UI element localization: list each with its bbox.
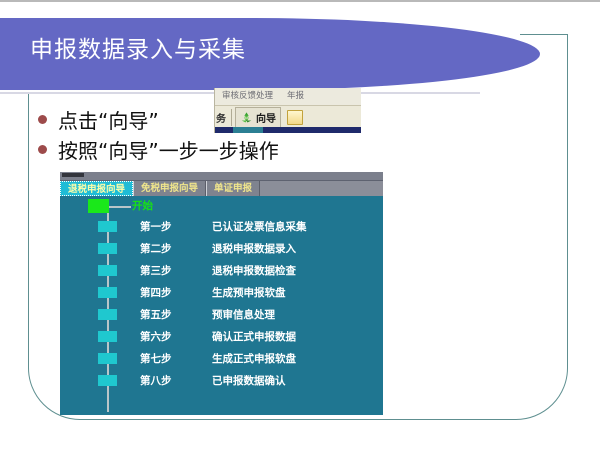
step-description: 已申报数据确认 [212,373,286,388]
step-chip-icon [98,221,117,232]
window-title-strip [60,172,383,181]
step-number: 第六步 [140,329,172,344]
step-chip-icon [98,243,117,254]
start-label: 开始 [132,198,153,213]
menu-item-annual-report[interactable]: 年报 [280,88,311,105]
bullet-text: 按照“向导”一步一步操作 [58,135,279,164]
title-strip-blip [62,173,84,177]
menu-bar: 审核反馈处理 年报 [215,88,361,106]
list-item[interactable]: 第一步 已认证发票信息采集 [60,216,383,238]
list-item[interactable]: 第三步 退税申报数据检查 [60,260,383,282]
bullet-marker-icon [38,115,47,124]
step-description: 预审信息处理 [212,307,275,322]
step-number: 第八步 [140,373,172,388]
list-item[interactable]: 第五步 预审信息处理 [60,304,383,326]
page-title: 申报数据录入与采集 [30,30,246,64]
step-number: 第三步 [140,263,172,278]
tab-document-declaration-wizard[interactable]: 单证申报 [206,181,260,196]
toolbar-separator [231,109,232,126]
step-description: 退税申报数据录入 [212,241,296,256]
toolbar-button-row: 务 向导 [215,106,361,128]
bullet-text: 点击“向导” [58,105,159,134]
start-marker-icon [88,199,109,213]
flow-connector-elbow [107,206,131,208]
step-chip-icon [98,331,117,342]
step-chip-icon [98,309,117,320]
presentation-slide: 申报数据录入与采集 点击“向导” 按照“向导”一步一步操作 审核反馈处理 年报 … [0,0,600,450]
wizard-button[interactable]: 向导 [235,107,281,128]
step-chip-icon [98,265,117,276]
step-chip-icon [98,375,117,386]
step-description: 已认证发票信息采集 [212,219,307,234]
menu-item-audit-feedback[interactable]: 审核反馈处理 [215,88,280,105]
recycle-icon [240,111,253,124]
step-number: 第四步 [140,285,172,300]
list-item[interactable]: 第八步 已申报数据确认 [60,370,383,392]
wizard-step-list: 第一步 已认证发票信息采集 第二步 退税申报数据录入 第三步 退税申报数据检查 … [60,216,383,392]
step-number: 第二步 [140,241,172,256]
step-description: 生成正式申报软盘 [212,351,296,366]
bullet-marker-icon [38,145,47,154]
list-item[interactable]: 第七步 生成正式申报软盘 [60,348,383,370]
toolbar-bottom-band [215,127,361,133]
embedded-wizard-screenshot: 退税申报向导 免税申报向导 单证申报 开始 第一步 已认证发票信息采集 第二步 … [60,172,383,415]
step-description: 生成预申报软盘 [212,285,286,300]
step-chip-icon [98,353,117,364]
list-item[interactable]: 第四步 生成预申报软盘 [60,282,383,304]
step-description: 确认正式申报数据 [212,329,296,344]
toolbar-band-chip [233,127,263,133]
document-icon[interactable] [287,110,303,125]
list-item[interactable]: 第二步 退税申报数据录入 [60,238,383,260]
step-chip-icon [98,287,117,298]
step-number: 第五步 [140,307,172,322]
list-item: 按照“向导”一步一步操作 [38,134,458,164]
partial-button-label: 务 [215,110,228,125]
embedded-toolbar-screenshot: 审核反馈处理 年报 务 向导 [214,88,361,133]
step-number: 第七步 [140,351,172,366]
tab-refund-declaration-wizard[interactable]: 退税申报向导 [60,181,133,196]
tab-exemption-declaration-wizard[interactable]: 免税申报向导 [133,181,206,196]
step-description: 退税申报数据检查 [212,263,296,278]
wizard-button-label: 向导 [256,110,276,125]
wizard-tab-bar: 退税申报向导 免税申报向导 单证申报 [60,181,383,196]
wizard-step-panel: 开始 第一步 已认证发票信息采集 第二步 退税申报数据录入 第三步 退税申报数据… [60,196,383,415]
step-number: 第一步 [140,219,172,234]
top-hairline [0,0,600,2]
list-item[interactable]: 第六步 确认正式申报数据 [60,326,383,348]
